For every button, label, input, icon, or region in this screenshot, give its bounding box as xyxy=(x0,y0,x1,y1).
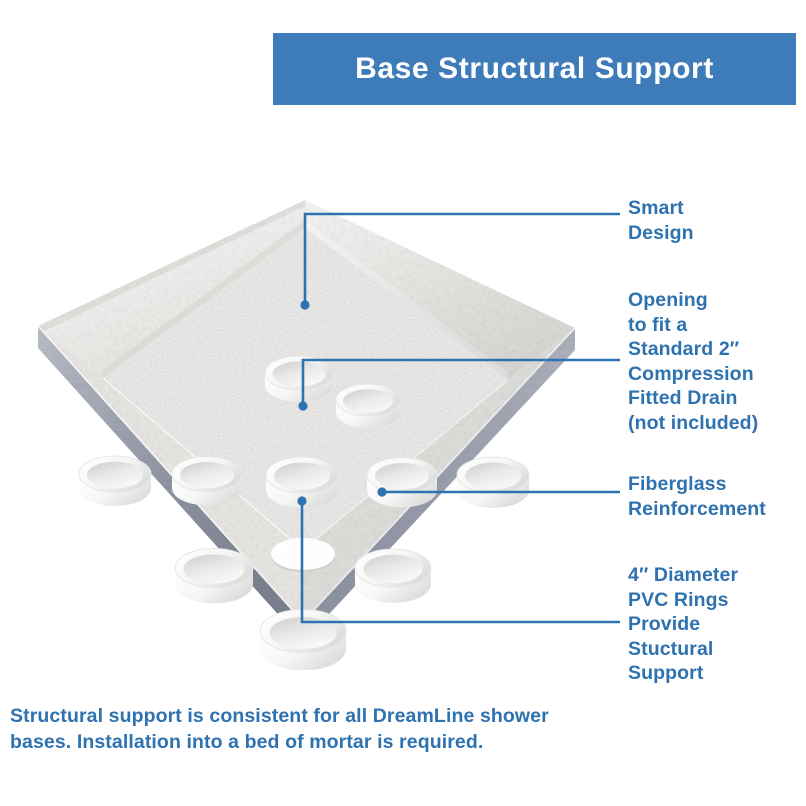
callout-pvc-rings: 4″ DiameterPVC RingsProvideStucturalSupp… xyxy=(628,563,738,686)
drain-opening xyxy=(271,538,335,572)
pvc-ring xyxy=(457,457,529,508)
header-banner: Base Structural Support xyxy=(273,33,796,105)
pvc-ring xyxy=(175,549,253,604)
pvc-ring xyxy=(266,457,338,508)
pvc-ring xyxy=(355,549,431,603)
pvc-ring xyxy=(367,458,437,508)
callout-fiberglass-reinforcement: FiberglassReinforcement xyxy=(628,472,766,521)
pvc-ring xyxy=(336,384,400,428)
callout-smart-design: SmartDesign xyxy=(628,196,694,245)
product-illustration-shower-base xyxy=(0,150,640,670)
pvc-ring xyxy=(79,456,151,506)
callout-drain-opening: Openingto fit aStandard 2″CompressionFit… xyxy=(628,288,758,435)
pvc-ring xyxy=(172,457,242,506)
bottom-caption: Structural support is consistent for all… xyxy=(10,703,570,756)
pvc-ring xyxy=(265,356,333,402)
pvc-ring xyxy=(260,610,346,671)
infographic-page: Base Structural Support xyxy=(0,0,806,806)
page-title: Base Structural Support xyxy=(355,52,714,86)
